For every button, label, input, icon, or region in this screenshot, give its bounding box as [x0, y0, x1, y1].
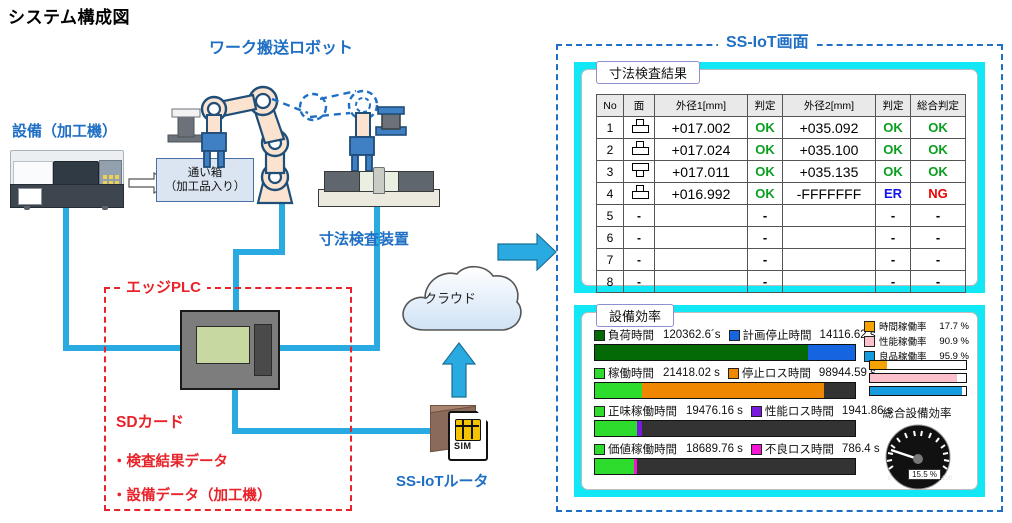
- face-orientation-icon: [632, 141, 647, 155]
- cell-judge2: OK: [876, 161, 911, 183]
- cell-face: -: [624, 271, 655, 293]
- efficiency-row-bar: [594, 420, 856, 437]
- right-value: 786.4 s: [842, 443, 880, 455]
- th-judge2: 判定: [876, 95, 911, 117]
- table-row: 2+017.024OK+035.100OKOK: [597, 139, 966, 161]
- rate-value: 90.9 %: [935, 336, 969, 347]
- efficiency-row: 正味稼働時間19476.16 s性能ロス時間1941.86 s: [594, 403, 856, 437]
- cell-no: 7: [597, 249, 624, 271]
- efficiency-row-label: 価値稼働時間18689.76 s不良ロス時間786.4 s: [594, 441, 856, 457]
- bar-segment-right: [634, 459, 637, 474]
- right-label: 停止ロス時間: [742, 365, 811, 381]
- table-row: 4+016.992OK-FFFFFFFERNG: [597, 183, 966, 205]
- cell-dia2: [783, 205, 876, 227]
- right-label: 計画停止時間: [743, 327, 812, 343]
- inspection-result-panel: 寸法検査結果 No 面 外径1[mm] 判定 外径2[mm] 判定 総合判定 1…: [574, 62, 985, 293]
- efficiency-row-label: 負荷時間120362.6´s計画停止時間14116.62 s: [594, 327, 856, 343]
- left-value: 18689.76 s: [686, 443, 743, 455]
- efficiency-row: 価値稼働時間18689.76 s不良ロス時間786.4 s: [594, 441, 856, 475]
- th-judge1: 判定: [748, 95, 783, 117]
- cell-no: 4: [597, 183, 624, 205]
- wire-robot-horizontal: [233, 249, 285, 255]
- wire-inspect-vertical: [374, 205, 380, 351]
- sd-card-label: SDカード: [116, 410, 184, 432]
- cnc-machine-illustration: [10, 142, 122, 210]
- cell-dia2: +035.135: [783, 161, 876, 183]
- efficiency-row: 稼働時間21418.02 s停止ロス時間98944.59 s: [594, 365, 856, 399]
- table-row: 7----: [597, 249, 966, 271]
- rate-swatch: [864, 321, 875, 332]
- cell-dia2: -FFFFFFF: [783, 183, 876, 205]
- rate-label: 時間稼働率: [879, 319, 931, 333]
- cell-judge2: OK: [876, 117, 911, 139]
- cell-judge2: -: [876, 249, 911, 271]
- ss-iot-router-illustration: SIM: [430, 405, 484, 459]
- face-orientation-icon: [632, 163, 647, 177]
- cell-judge1: OK: [748, 161, 783, 183]
- bar-segment-right: [642, 383, 824, 398]
- rate-bar-fill: [870, 374, 957, 382]
- cell-judge2: -: [876, 227, 911, 249]
- cell-face: [624, 161, 655, 183]
- table-row: 3+017.011OK+035.135OKOK: [597, 161, 966, 183]
- plc-device-illustration: [180, 310, 280, 390]
- right-label: 性能ロス時間: [765, 403, 834, 419]
- left-label: 稼働時間: [608, 365, 654, 381]
- left-value: 21418.02 s: [663, 367, 720, 379]
- rate-legend: 時間稼働率17.7 %性能稼働率90.9 %良品稼働率95.9 %: [864, 319, 969, 364]
- page-title: システム構成図: [8, 3, 130, 28]
- efficiency-row-label: 正味稼働時間19476.16 s性能ロス時間1941.86 s: [594, 403, 856, 419]
- cell-total: OK: [911, 139, 966, 161]
- cell-judge2: -: [876, 205, 911, 227]
- cell-judge1: -: [748, 205, 783, 227]
- rate-label: 性能稼働率: [879, 334, 931, 348]
- cell-total: OK: [911, 117, 966, 139]
- cell-face: -: [624, 227, 655, 249]
- cell-face: [624, 117, 655, 139]
- th-face: 面: [624, 95, 655, 117]
- th-total: 総合判定: [911, 95, 966, 117]
- cell-dia1: [655, 271, 748, 293]
- cell-face: [624, 139, 655, 161]
- arrow-right-icon: [497, 233, 557, 271]
- cell-judge1: OK: [748, 183, 783, 205]
- cell-dia1: [655, 249, 748, 271]
- table-header-row: No 面 外径1[mm] 判定 外径2[mm] 判定 総合判定: [597, 95, 966, 117]
- rate-swatch: [864, 336, 875, 347]
- cell-judge1: OK: [748, 117, 783, 139]
- th-dia2: 外径2[mm]: [783, 95, 876, 117]
- cell-face: -: [624, 249, 655, 271]
- legend-swatch-right: [751, 444, 762, 455]
- cell-dia1: +017.024: [655, 139, 748, 161]
- efficiency-row-bar: [594, 344, 856, 361]
- cloud-label: クラウド: [424, 288, 476, 307]
- edge-plc-region-label: エッジPLC: [120, 276, 207, 297]
- inspection-result-title: 寸法検査結果: [596, 61, 700, 84]
- table-row: 1+017.002OK+035.092OKOK: [597, 117, 966, 139]
- oee-value: 15.5 %: [908, 469, 941, 480]
- cell-dia1: [655, 227, 748, 249]
- ss-iot-screen-region-label: SS-IoT画面: [718, 28, 817, 52]
- bar-segment-left: [595, 421, 637, 436]
- left-label: 価値稼働時間: [608, 441, 677, 457]
- inspection-device-label: 寸法検査装置: [319, 228, 409, 249]
- sim-card-icon: SIM: [448, 411, 488, 461]
- rate-legend-item: 性能稼働率90.9 %: [864, 334, 969, 348]
- legend-swatch-left: [594, 368, 605, 379]
- oee-gauge: 0 100: [876, 423, 960, 491]
- cell-dia1: +017.011: [655, 161, 748, 183]
- legend-swatch-right: [728, 368, 739, 379]
- left-label: 負荷時間: [608, 327, 654, 343]
- gauge-min-label: 0: [888, 476, 892, 482]
- cell-judge1: -: [748, 249, 783, 271]
- cell-dia2: [783, 227, 876, 249]
- equipment-efficiency-panel: 設備効率 負荷時間120362.6´s計画停止時間14116.62 s稼働時間2…: [574, 305, 985, 497]
- cell-no: 8: [597, 271, 624, 293]
- gauge-max-label: 100: [942, 476, 953, 482]
- legend-swatch-left: [594, 330, 605, 341]
- plc-sd-slot: [254, 324, 272, 376]
- rate-bar: [869, 373, 967, 383]
- cell-judge1: -: [748, 227, 783, 249]
- cell-judge1: OK: [748, 139, 783, 161]
- plc-screen: [196, 326, 250, 364]
- left-value: 120362.6´s: [663, 329, 721, 341]
- cell-total: OK: [911, 161, 966, 183]
- rate-bar-fill: [870, 361, 887, 369]
- th-dia1: 外径1[mm]: [655, 95, 748, 117]
- cell-no: 2: [597, 139, 624, 161]
- bar-segment-right: [637, 421, 642, 436]
- cell-dia2: [783, 249, 876, 271]
- cell-judge1: -: [748, 271, 783, 293]
- cell-total: -: [911, 205, 966, 227]
- machine-label: 設備（加工機）: [12, 120, 117, 141]
- cell-dia1: +016.992: [655, 183, 748, 205]
- legend-swatch-left: [594, 444, 605, 455]
- rate-bars: [869, 360, 967, 399]
- rate-bar: [869, 360, 967, 370]
- table-row: 5----: [597, 205, 966, 227]
- table-row: 6----: [597, 227, 966, 249]
- wire-machine-vertical: [63, 208, 69, 351]
- oee-label: 総合設備効率: [871, 405, 963, 421]
- legend-swatch-left: [594, 406, 605, 417]
- efficiency-row-bar: [594, 458, 856, 475]
- face-orientation-icon: [632, 119, 647, 133]
- cell-no: 1: [597, 117, 624, 139]
- sd-card-item-1: ・設備データ（加工機）: [112, 484, 272, 505]
- face-orientation-icon: [632, 185, 647, 199]
- efficiency-row-label: 稼働時間21418.02 s停止ロス時間98944.59 s: [594, 365, 856, 381]
- legend-swatch-right: [751, 406, 762, 417]
- right-label: 不良ロス時間: [765, 441, 834, 457]
- arrow-up-icon: [442, 342, 476, 398]
- cell-no: 6: [597, 227, 624, 249]
- left-value: 19476.16 s: [686, 405, 743, 417]
- th-no: No: [597, 95, 624, 117]
- efficiency-row: 負荷時間120362.6´s計画停止時間14116.62 s: [594, 327, 856, 361]
- efficiency-row-bar: [594, 382, 856, 399]
- cell-judge2: OK: [876, 139, 911, 161]
- cell-total: -: [911, 249, 966, 271]
- bar-segment-left: [595, 383, 642, 398]
- inspection-device-illustration: [318, 165, 438, 205]
- equipment-efficiency-title: 設備効率: [596, 304, 674, 327]
- cell-no: 5: [597, 205, 624, 227]
- sd-card-item-0: ・検査結果データ: [112, 450, 228, 471]
- cell-dia2: [783, 271, 876, 293]
- rate-bar-fill: [870, 387, 962, 395]
- cell-no: 3: [597, 161, 624, 183]
- table-row: 8----: [597, 271, 966, 293]
- cell-total: -: [911, 271, 966, 293]
- rate-legend-item: 時間稼働率17.7 %: [864, 319, 969, 333]
- right-value: 98944.59 s: [819, 367, 876, 379]
- inspection-result-table: No 面 外径1[mm] 判定 外径2[mm] 判定 総合判定 1+017.00…: [596, 94, 966, 293]
- cell-dia1: [655, 205, 748, 227]
- cell-face: [624, 183, 655, 205]
- cell-total: NG: [911, 183, 966, 205]
- rate-value: 17.7 %: [935, 321, 969, 332]
- router-label: SS-IoTルータ: [396, 470, 489, 491]
- cell-dia1: +017.002: [655, 117, 748, 139]
- bar-segment-left: [595, 459, 634, 474]
- cell-judge2: -: [876, 271, 911, 293]
- bar-segment-left: [595, 345, 808, 360]
- left-label: 正味稼働時間: [608, 403, 677, 419]
- bar-segment-right: [808, 345, 855, 360]
- cell-judge2: ER: [876, 183, 911, 205]
- cell-total: -: [911, 227, 966, 249]
- legend-swatch-right: [729, 330, 740, 341]
- cell-face: -: [624, 205, 655, 227]
- rate-bar: [869, 386, 967, 396]
- cell-dia2: +035.092: [783, 117, 876, 139]
- cell-dia2: +035.100: [783, 139, 876, 161]
